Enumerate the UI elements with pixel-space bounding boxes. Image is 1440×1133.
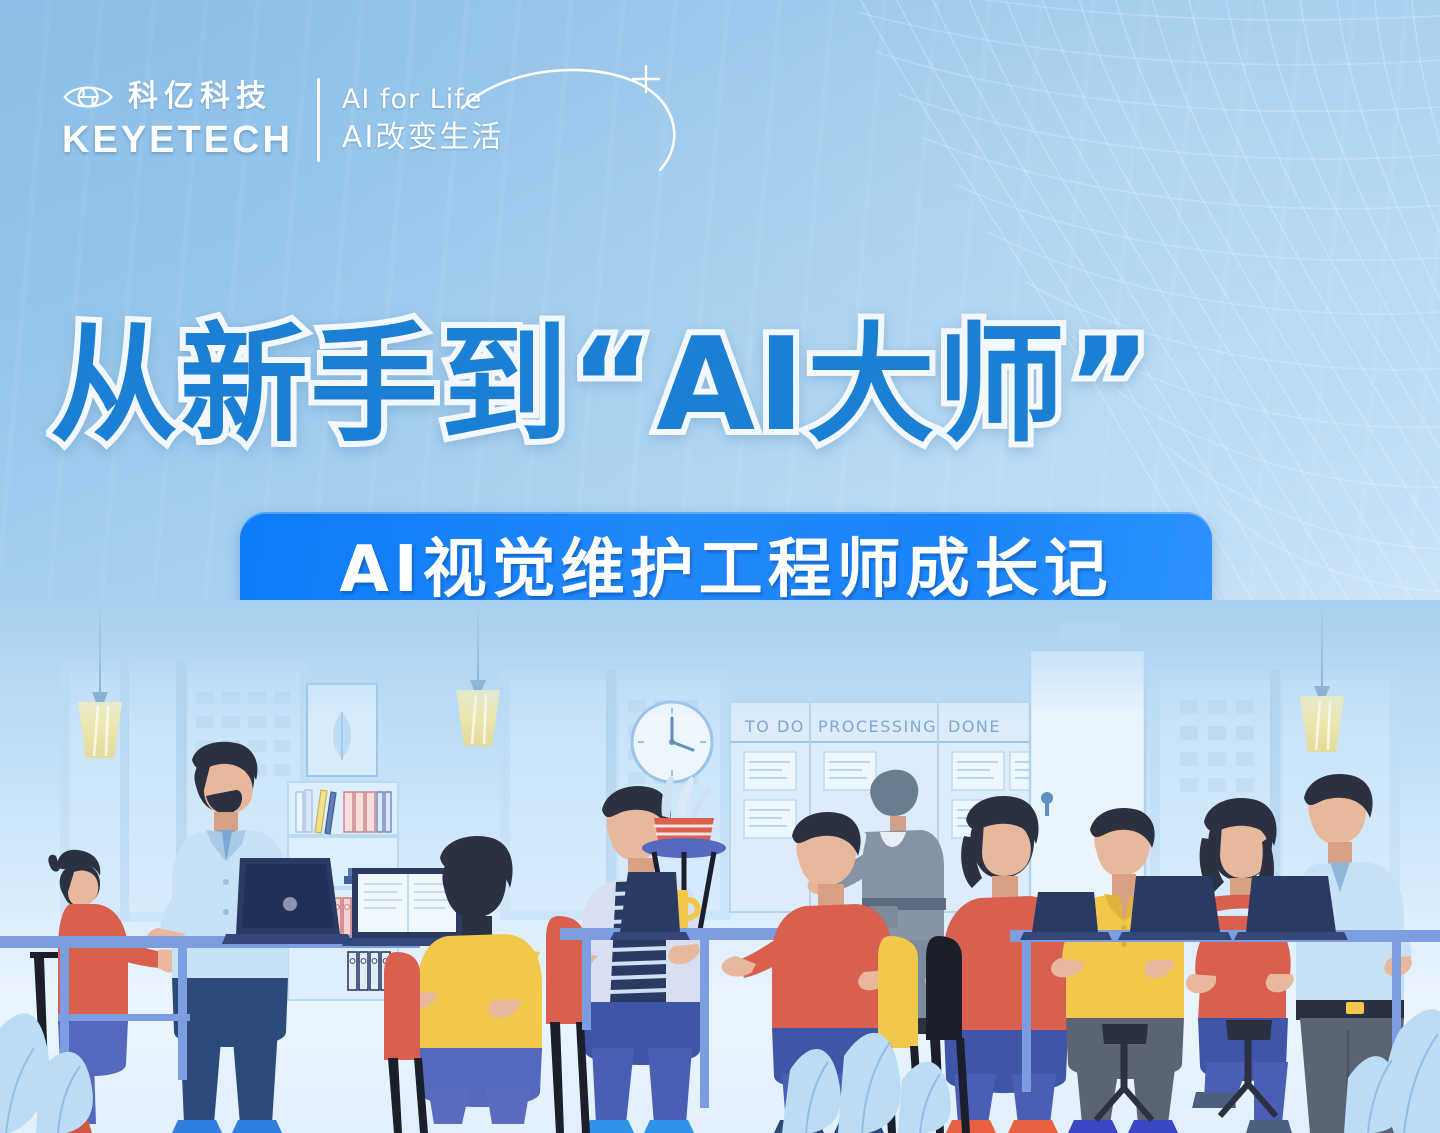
framed-leaf-picture: [307, 684, 377, 776]
poster-canvas: 科亿科技 KEYETECH AI for Life AI改变生活 从新手到“AI…: [0, 0, 1440, 1133]
eye-aperture-icon: [62, 81, 116, 113]
mesh-decoration: [800, 0, 1440, 600]
svg-text:TO DO: TO DO: [744, 717, 805, 736]
logo-cn-row: 科亿科技: [62, 81, 293, 113]
brand-logo[interactable]: 科亿科技 KEYETECH AI for Life AI改变生活: [62, 72, 503, 168]
wall-clock: [632, 702, 712, 782]
logo-slogan-group: AI for Life AI改变生活: [342, 84, 503, 156]
swoosh-arc-icon: [454, 58, 694, 178]
sparkle-icon: [633, 66, 659, 92]
page-title: 从新手到“AI大师”: [50, 322, 1410, 450]
logo-left-group: 科亿科技 KEYETECH: [62, 81, 293, 159]
logo-name-cn: 科亿科技: [128, 82, 272, 112]
logo-name-en: KEYETECH: [62, 121, 293, 159]
svg-text:PROCESSING: PROCESSING: [818, 717, 937, 736]
subtitle-text: AI视觉维护工程师成长记: [339, 538, 1112, 602]
office-scene: TO DO PROCESSING DONE: [0, 600, 1440, 1133]
svg-text:DONE: DONE: [948, 717, 1001, 736]
logo-divider: [317, 78, 320, 162]
